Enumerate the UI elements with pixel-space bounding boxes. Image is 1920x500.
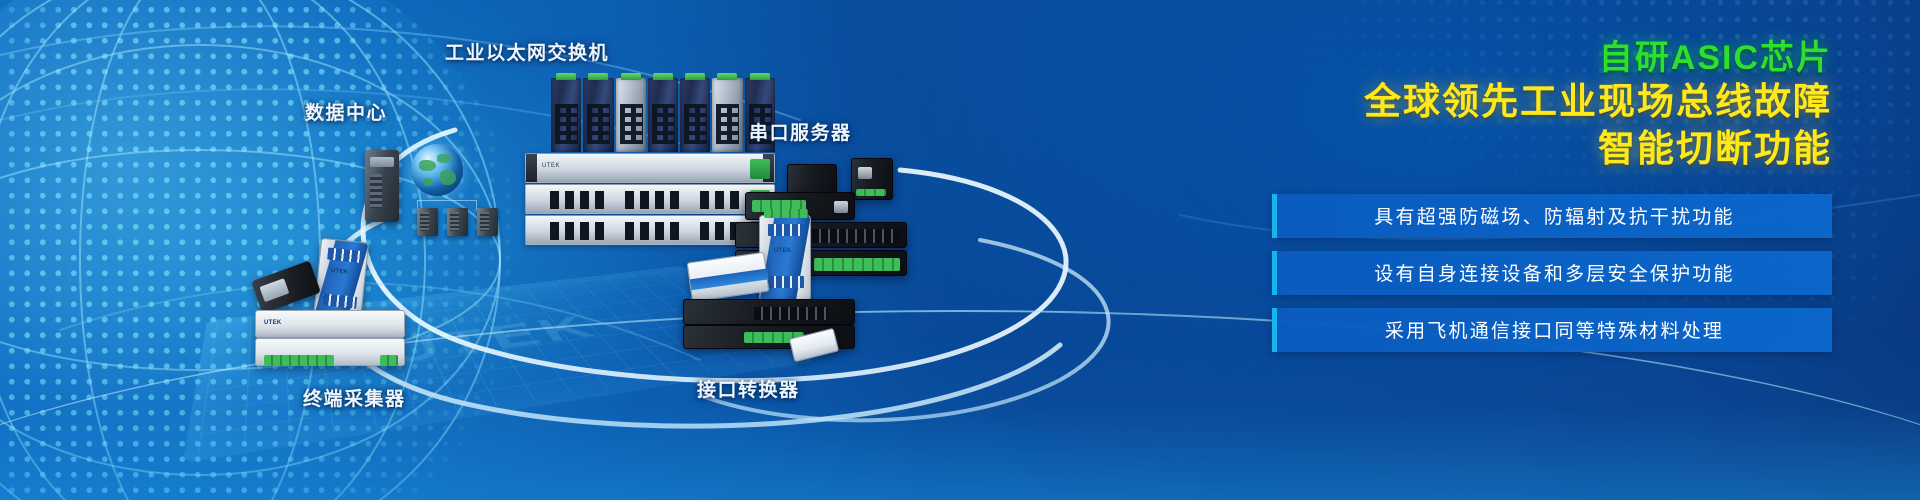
terminal-block [856, 189, 886, 196]
headline-line-3: 智能切断功能 [1272, 126, 1832, 172]
module-brand-mark: UTEK [774, 248, 792, 254]
device-label-terminal-collector: 终端采集器 [303, 384, 406, 411]
rj45-port [858, 167, 872, 179]
globe-icon [411, 144, 463, 196]
switch-module [648, 78, 678, 152]
switch-module [616, 78, 646, 152]
terminal-block [764, 209, 808, 218]
serial-module [851, 158, 893, 200]
feature-box-3[interactable]: 采用飞机通信接口同等特殊材料处理 [1272, 308, 1832, 352]
rack-ear [526, 154, 537, 182]
converter-chassis [683, 299, 855, 325]
promo-banner: UTEK 数据中 [0, 0, 1920, 500]
server-rack-icon [417, 208, 438, 236]
collector-brand-mark: UTEK [264, 320, 282, 326]
feature-box-1[interactable]: 具有超强防磁场、防辐射及抗干扰功能 [1272, 194, 1832, 238]
port-bank [754, 307, 828, 320]
switch-module [680, 78, 710, 152]
dip-switch [322, 293, 357, 308]
dip-switch [768, 276, 804, 288]
headline-line-1: 自研ASIC芯片 [1272, 38, 1832, 79]
switch-modules [551, 78, 775, 152]
rs232-converter [687, 252, 770, 302]
terminal-block [380, 355, 398, 366]
switch-port-bank [550, 191, 744, 209]
feature-text-3: 采用飞机通信接口同等特殊材料处理 [1385, 316, 1724, 343]
device-label-ethernet-switch: 工业以太网交换机 [445, 38, 609, 65]
collector-chassis [255, 338, 405, 366]
feature-box-2[interactable]: 设有自身连接设备和多层安全保护功能 [1272, 251, 1832, 295]
rj45-port [834, 201, 848, 213]
server-tower-icon [365, 150, 399, 222]
module-brand-mark: UTEK [331, 268, 349, 276]
dip-switch [768, 224, 804, 236]
device-label-interface-converter: 接口转换器 [697, 375, 800, 402]
server-rack-icon [447, 208, 468, 236]
device-terminal-collector: UTEK UTEK 终端采集器 [255, 240, 475, 400]
feature-text-2: 设有自身连接设备和多层安全保护功能 [1374, 259, 1734, 286]
brand-stripe [690, 268, 769, 290]
switch-module [712, 78, 742, 152]
switch-brand-mark: UTEK [542, 163, 560, 169]
feature-list: 具有超强防磁场、防辐射及抗干扰功能 设有自身连接设备和多层安全保护功能 采用飞机… [1272, 194, 1832, 352]
device-interface-converter: UTEK 接口转换器 [675, 215, 905, 395]
headline-line-2: 全球领先工业现场总线故障 [1272, 79, 1832, 125]
marketing-copy: 自研ASIC芯片 全球领先工业现场总线故障 智能切断功能 具有超强防磁场、防辐射… [1272, 38, 1832, 352]
dip-switch [327, 247, 362, 262]
feature-text-1: 具有超强防磁场、防辐射及抗干扰功能 [1374, 202, 1734, 229]
switch-module [583, 78, 613, 152]
device-label-data-center: 数据中心 [305, 98, 387, 125]
collector-chassis: UTEK [255, 310, 405, 338]
switch-module [551, 78, 581, 152]
terminal-block [264, 355, 334, 366]
server-rack-icon [477, 208, 498, 236]
device-data-center: 数据中心 [365, 128, 525, 248]
device-label-serial-server: 串口服务器 [749, 118, 852, 145]
handheld-terminal [251, 260, 321, 313]
